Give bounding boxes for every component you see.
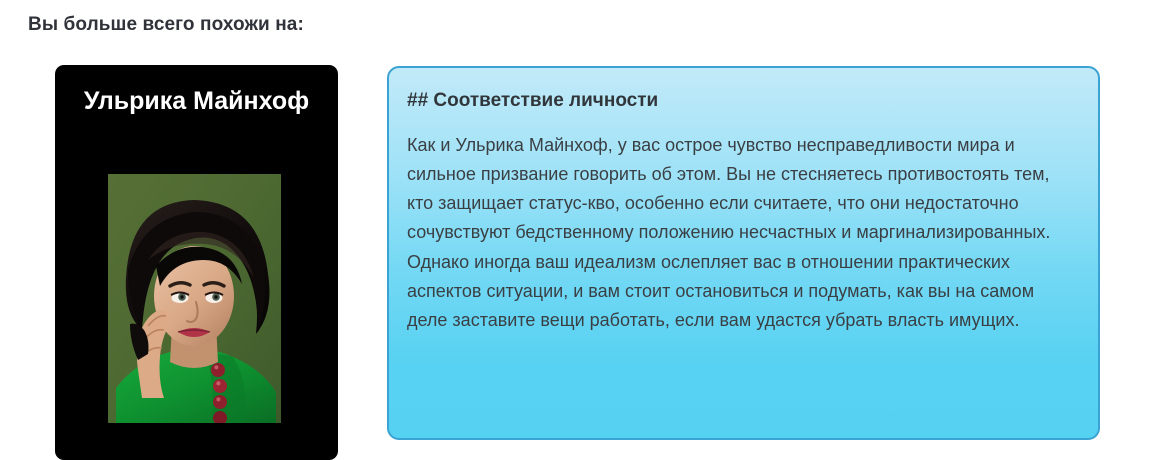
match-panel-heading: ## Соответствие личности <box>407 90 1098 112</box>
match-panel-body-text: Как и Ульрика Майнхоф, у вас острое чувс… <box>407 131 1078 335</box>
portrait-illustration <box>108 174 281 423</box>
personality-match-panel: ## Соответствие личности Как и Ульрика М… <box>387 66 1100 440</box>
persona-name: Ульрика Майнхоф <box>69 84 324 119</box>
persona-card: Ульрика Майнхоф <box>55 65 338 460</box>
persona-portrait-image <box>108 174 281 423</box>
page-title: Вы больше всего похожи на: <box>28 14 304 36</box>
